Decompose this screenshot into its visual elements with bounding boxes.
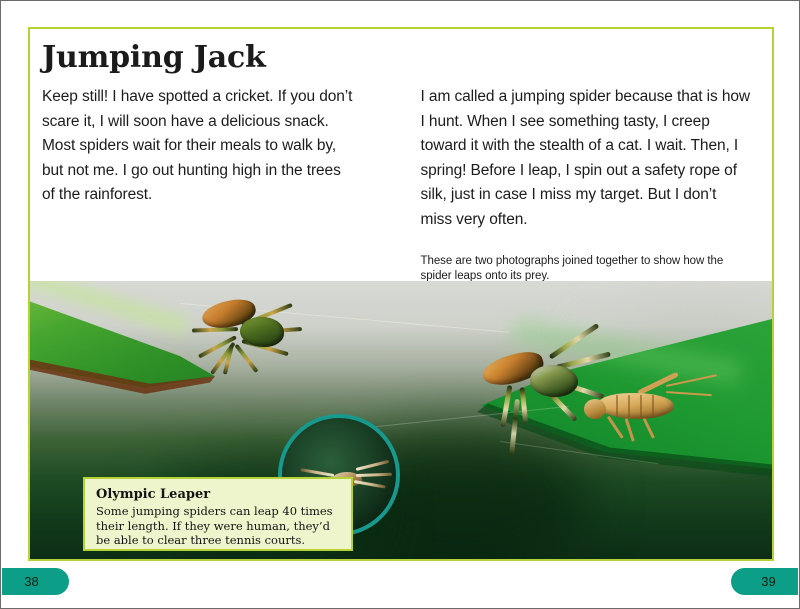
cricket-antenna — [666, 391, 712, 396]
cricket-leg — [625, 418, 635, 442]
spider-leg — [520, 387, 529, 423]
page-number-left: 38 — [2, 568, 69, 595]
column-left: Keep still! I have spotted a cricket. If… — [41, 85, 357, 208]
page-title: Jumping Jack — [41, 41, 750, 75]
cricket-head — [584, 399, 606, 419]
fact-box-text: Some jumping spiders can leap 40 times t… — [96, 504, 341, 548]
spider-leg — [234, 344, 258, 373]
content-frame: Jumping Jack Keep still! I have spotted … — [28, 27, 774, 561]
spider-leg — [356, 473, 392, 477]
spider-photograph: Olympic Leaper Some jumping spiders can … — [30, 281, 772, 559]
body-paragraph-right: I am called a jumping spider because tha… — [421, 85, 750, 232]
cricket-segment — [616, 395, 618, 417]
spider-leg — [223, 345, 234, 375]
cricket-segment — [640, 395, 642, 417]
book-spread: Jumping Jack Keep still! I have spotted … — [0, 0, 800, 609]
spider-leg — [500, 385, 512, 427]
spider-dragline — [509, 399, 520, 455]
spider-leg — [300, 468, 334, 477]
spider-cephalothorax — [530, 365, 578, 397]
cricket-segment — [652, 395, 654, 417]
column-right: I am called a jumping spider because tha… — [421, 85, 750, 283]
jumping-spider-left — [158, 299, 308, 395]
photo-caption: These are two photographs joined togethe… — [421, 254, 750, 283]
spider-leg — [356, 460, 390, 471]
fact-box: Olympic Leaper Some jumping spiders can … — [83, 477, 353, 551]
text-area: Jumping Jack Keep still! I have spotted … — [30, 29, 772, 281]
cricket-leg — [607, 416, 624, 439]
cricket-leg — [643, 418, 655, 439]
cricket-segment — [628, 395, 630, 417]
spider-leg — [192, 327, 238, 333]
text-columns: Keep still! I have spotted a cricket. If… — [41, 85, 750, 283]
spider-cephalothorax — [240, 317, 284, 347]
page-number-right: 39 — [731, 568, 798, 595]
fact-box-title: Olympic Leaper — [96, 487, 341, 503]
cricket-prey — [582, 377, 722, 441]
body-paragraph-left: Keep still! I have spotted a cricket. If… — [42, 85, 357, 208]
